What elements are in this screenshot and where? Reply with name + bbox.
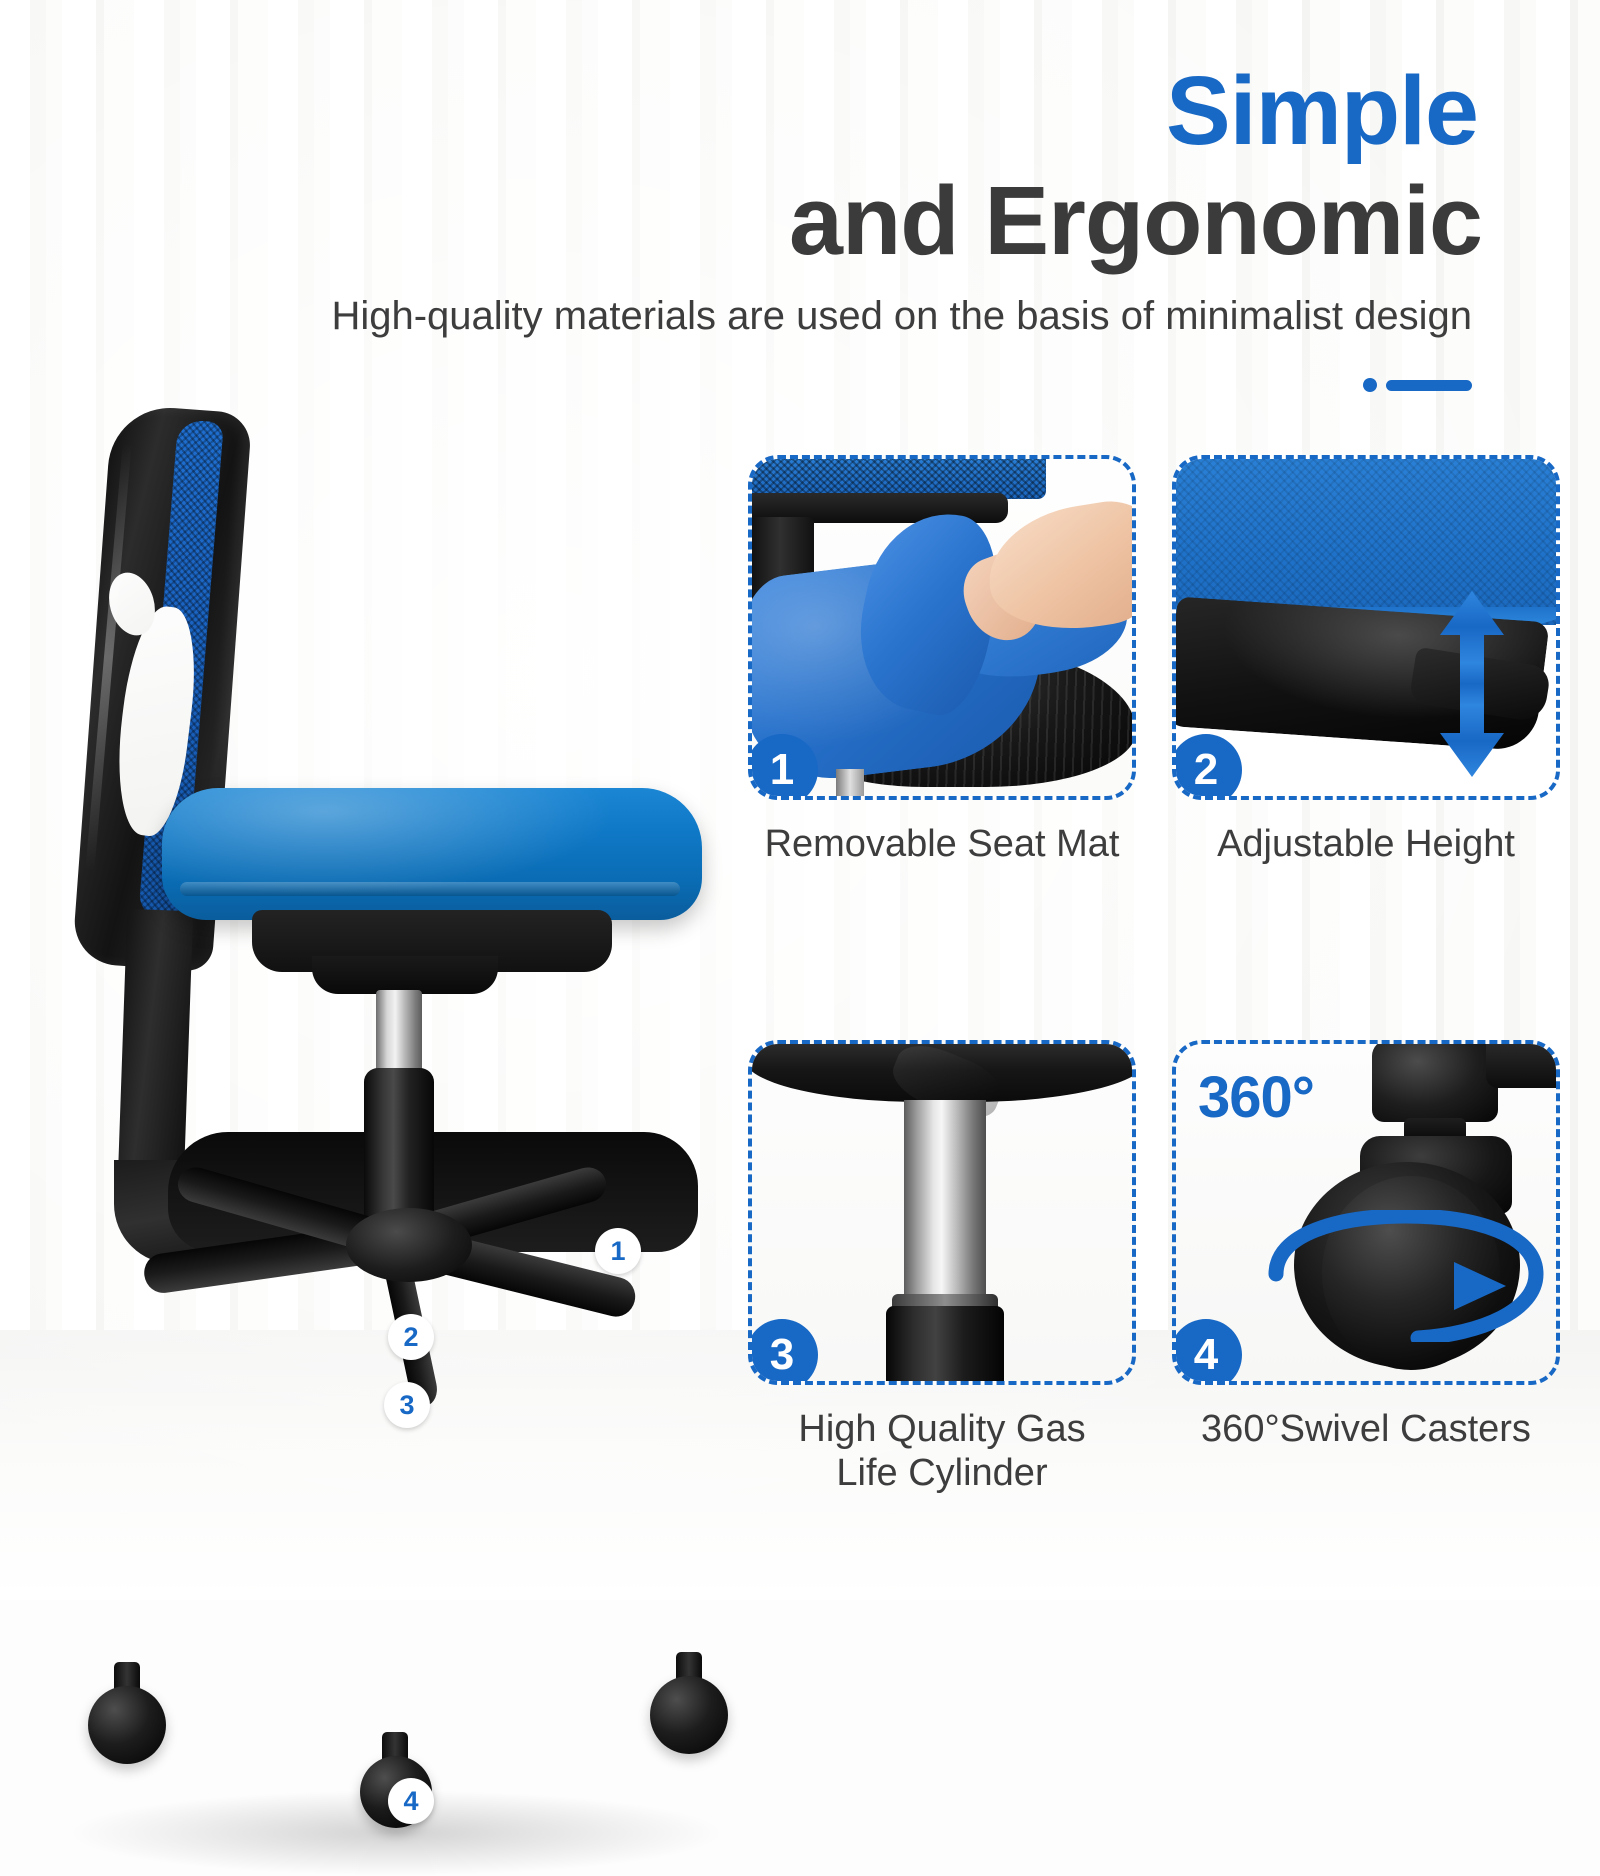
rotation-label: 360° bbox=[1198, 1064, 1314, 1131]
feature-caption-1: Removable Seat Mat bbox=[748, 823, 1136, 867]
feature-caption-3-line2: Life Cylinder bbox=[836, 1452, 1047, 1494]
feature-caption-4: 360°Swivel Casters bbox=[1172, 1408, 1560, 1452]
base-leg-end-extension bbox=[1486, 1040, 1560, 1088]
chair-marker-2: 2 bbox=[388, 1314, 434, 1360]
feature-image-frame-4: 360° 4 bbox=[1172, 1040, 1560, 1385]
feature-badge-1: 1 bbox=[748, 734, 818, 800]
feature-badge-2: 2 bbox=[1172, 734, 1242, 800]
feature-image-frame-1: 1 bbox=[748, 455, 1136, 800]
divider-bar bbox=[1386, 380, 1472, 391]
feature-badge-4: 4 bbox=[1172, 1319, 1242, 1385]
base-leg-end bbox=[1372, 1040, 1498, 1122]
chrome-cylinder-shaft bbox=[904, 1100, 986, 1304]
feature-caption-3: High Quality Gas Life Cylinder bbox=[748, 1408, 1136, 1495]
feature-image-frame-2: 2 bbox=[1172, 455, 1560, 800]
seat-crease bbox=[180, 882, 680, 896]
mechanism-housing bbox=[312, 956, 498, 994]
feature-image-frame-3: 3 bbox=[748, 1040, 1136, 1385]
feature-grid: 1 Removable Seat Mat bbox=[748, 455, 1560, 1515]
feature-caption-2: Adjustable Height bbox=[1172, 823, 1560, 867]
feature-item-adjustable-height: 2 Adjustable Height bbox=[1172, 455, 1560, 930]
product-image-chair-side-view: 1 2 3 4 bbox=[30, 390, 730, 1530]
base-hub bbox=[346, 1208, 472, 1282]
feature-badge-3: 3 bbox=[748, 1319, 818, 1385]
feature-item-gas-cylinder: 3 High Quality Gas Life Cylinder bbox=[748, 1040, 1136, 1515]
feature-item-swivel-casters: 360° 4 360°Swivel Casters bbox=[1172, 1040, 1560, 1515]
circular-rotation-arrow-icon bbox=[1258, 1210, 1554, 1342]
header: Simple and Ergonomic High-quality materi… bbox=[0, 0, 1600, 420]
page-title: and Ergonomic bbox=[789, 172, 1482, 269]
gas-cylinder-chrome bbox=[376, 990, 422, 1076]
gas-cylinder-peek bbox=[836, 769, 864, 800]
cylinder-black-shroud bbox=[886, 1306, 1004, 1385]
chair-seat-cushion bbox=[162, 788, 702, 920]
page-subtitle: High-quality materials are used on the b… bbox=[331, 296, 1472, 336]
up-down-arrow-icon bbox=[1430, 591, 1514, 777]
feature-item-removable-seat-mat: 1 Removable Seat Mat bbox=[748, 455, 1136, 930]
swivel-caster bbox=[650, 1676, 728, 1754]
chair-marker-1: 1 bbox=[595, 1228, 641, 1274]
chair-marker-4: 4 bbox=[388, 1778, 434, 1824]
feature-caption-3-line1: High Quality Gas bbox=[798, 1408, 1085, 1450]
divider-dot bbox=[1363, 378, 1377, 392]
swivel-caster bbox=[88, 1686, 166, 1764]
page-title-accent: Simple bbox=[1166, 62, 1478, 159]
chair-marker-3: 3 bbox=[384, 1382, 430, 1428]
divider bbox=[1363, 378, 1472, 392]
